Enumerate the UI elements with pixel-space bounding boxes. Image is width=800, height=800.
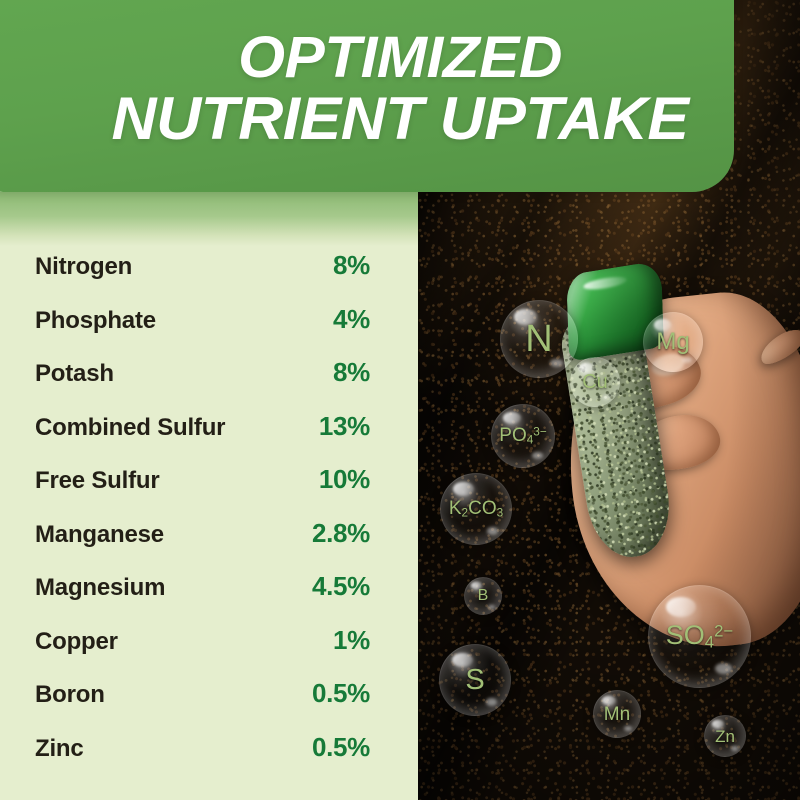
nutrient-name: Free Sulfur	[35, 467, 160, 495]
page-title-line-1: OPTIMIZED	[238, 25, 562, 90]
nutrient-bubble-mg: Mg	[643, 312, 703, 372]
page-title: OPTIMIZED NUTRIENT UPTAKE	[0, 28, 800, 150]
bubble-formula: N	[525, 320, 552, 358]
bubble-formula: SO42−	[666, 622, 733, 651]
nutrient-bubble-zn: Zn	[704, 715, 746, 757]
nutrient-name: Magnesium	[35, 574, 165, 602]
nutrient-row: Combined Sulfur13%	[0, 411, 418, 465]
bubble-formula: Zn	[715, 728, 735, 745]
nutrient-list: Nitrogen8%Phosphate4%Potash8%Combined Su…	[0, 250, 418, 785]
nutrient-bubble-mn: Mn	[593, 690, 641, 738]
nutrient-row: Nitrogen8%	[0, 250, 418, 304]
nutrient-value: 10%	[319, 464, 370, 495]
nutrient-value: 13%	[319, 411, 370, 442]
nutrient-bubble-s: S	[439, 644, 511, 716]
nutrient-value: 8%	[333, 250, 370, 281]
nutrient-value: 4%	[333, 304, 370, 335]
nutrient-row: Boron0.5%	[0, 678, 418, 732]
nutrient-panel: Nitrogen8%Phosphate4%Potash8%Combined Su…	[0, 236, 418, 800]
nutrient-row: Free Sulfur10%	[0, 464, 418, 518]
nutrient-name: Boron	[35, 681, 105, 709]
nutrient-row: Potash8%	[0, 357, 418, 411]
nutrient-row: Zinc0.5%	[0, 732, 418, 786]
nutrient-value: 2.8%	[312, 518, 370, 549]
bubble-formula: Mg	[656, 330, 689, 354]
bubble-formula: S	[465, 666, 484, 695]
nutrient-value: 0.5%	[312, 678, 370, 709]
nutrient-name: Combined Sulfur	[35, 414, 225, 442]
nutrient-name: Potash	[35, 360, 114, 388]
nutrient-bubble-po43: PO43−	[491, 404, 555, 468]
nutrient-bubble-cu: Cu	[570, 357, 620, 407]
nutrient-row: Magnesium4.5%	[0, 571, 418, 625]
nutrient-row: Manganese2.8%	[0, 518, 418, 572]
nutrient-value: 4.5%	[312, 571, 370, 602]
infographic-root: NMgCuPO43−K2CO3BSSO42−MnZn OPTIMIZED NUT…	[0, 0, 800, 800]
nutrient-bubble-k2co3: K2CO3	[440, 473, 512, 545]
nutrient-name: Phosphate	[35, 307, 156, 335]
bubble-formula: Mn	[604, 705, 630, 724]
nutrient-name: Zinc	[35, 735, 84, 763]
nutrient-row: Phosphate4%	[0, 304, 418, 358]
bubble-formula: B	[478, 588, 489, 604]
bubble-formula: Cu	[582, 372, 608, 392]
nutrient-bubble-so42: SO42−	[648, 585, 751, 688]
bubble-formula: K2CO3	[449, 499, 503, 519]
nutrient-row: Copper1%	[0, 625, 418, 679]
nutrient-value: 0.5%	[312, 732, 370, 763]
nutrient-value: 8%	[333, 357, 370, 388]
nutrient-bubble-b: B	[464, 577, 502, 615]
nutrient-value: 1%	[333, 625, 370, 656]
bubble-formula: PO43−	[499, 426, 546, 446]
nutrient-bubble-n: N	[500, 300, 578, 378]
page-title-line-2: NUTRIENT UPTAKE	[11, 88, 789, 150]
nutrient-name: Copper	[35, 628, 118, 656]
nutrient-name: Nitrogen	[35, 253, 132, 281]
nutrient-name: Manganese	[35, 521, 164, 549]
banner-gradient-fade	[0, 192, 418, 246]
